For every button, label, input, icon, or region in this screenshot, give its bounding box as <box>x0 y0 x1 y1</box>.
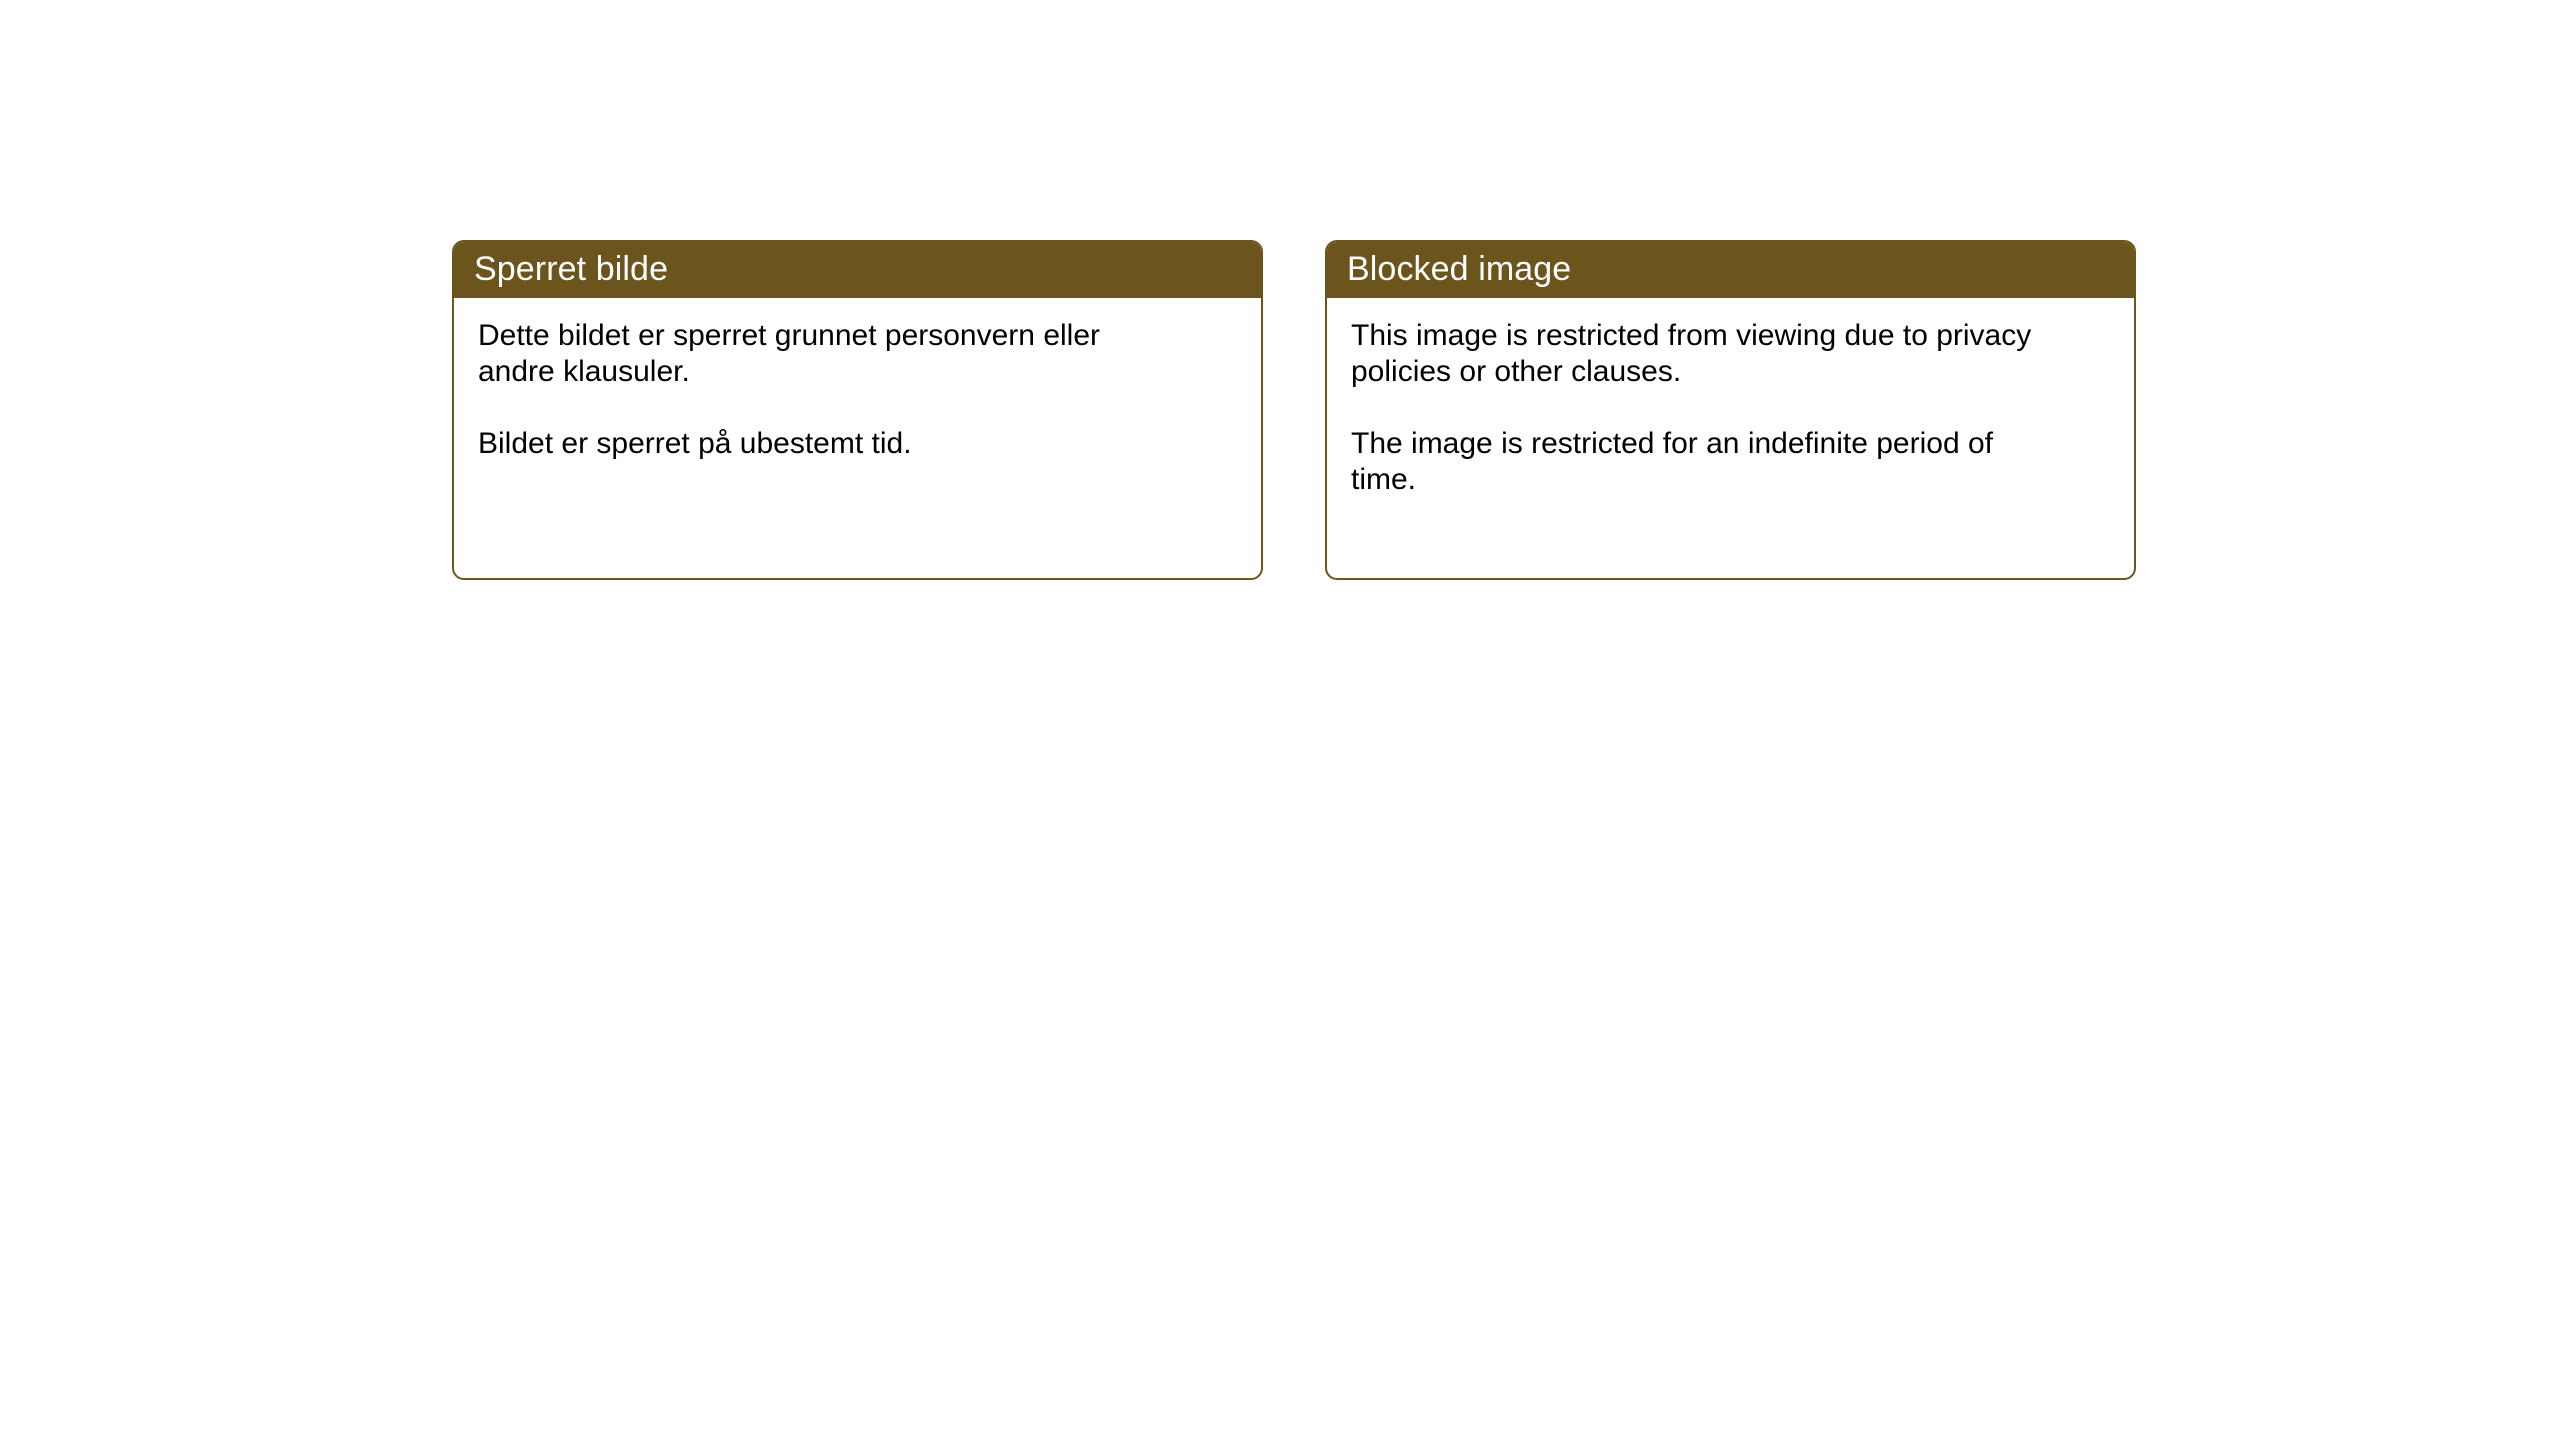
card-header-norwegian: Sperret bilde <box>452 240 1263 298</box>
card-title-norwegian: Sperret bilde <box>474 249 668 289</box>
blocked-image-card-english: Blocked image This image is restricted f… <box>1325 240 2136 580</box>
card-paragraph-secondary-norwegian: Bildet er sperret på ubestemt tid. <box>478 426 1178 462</box>
blocked-image-card-norwegian: Sperret bilde Dette bildet er sperret gr… <box>452 240 1263 580</box>
card-paragraph-primary-norwegian: Dette bildet er sperret grunnet personve… <box>478 318 1178 390</box>
card-paragraph-primary-english: This image is restricted from viewing du… <box>1351 318 2051 390</box>
card-body-norwegian: Dette bildet er sperret grunnet personve… <box>454 298 1261 578</box>
card-title-english: Blocked image <box>1347 249 1571 289</box>
blocked-image-notice-area: Sperret bilde Dette bildet er sperret gr… <box>452 240 2136 580</box>
card-body-english: This image is restricted from viewing du… <box>1327 298 2134 578</box>
card-paragraph-secondary-english: The image is restricted for an indefinit… <box>1351 426 2051 498</box>
card-header-english: Blocked image <box>1325 240 2136 298</box>
